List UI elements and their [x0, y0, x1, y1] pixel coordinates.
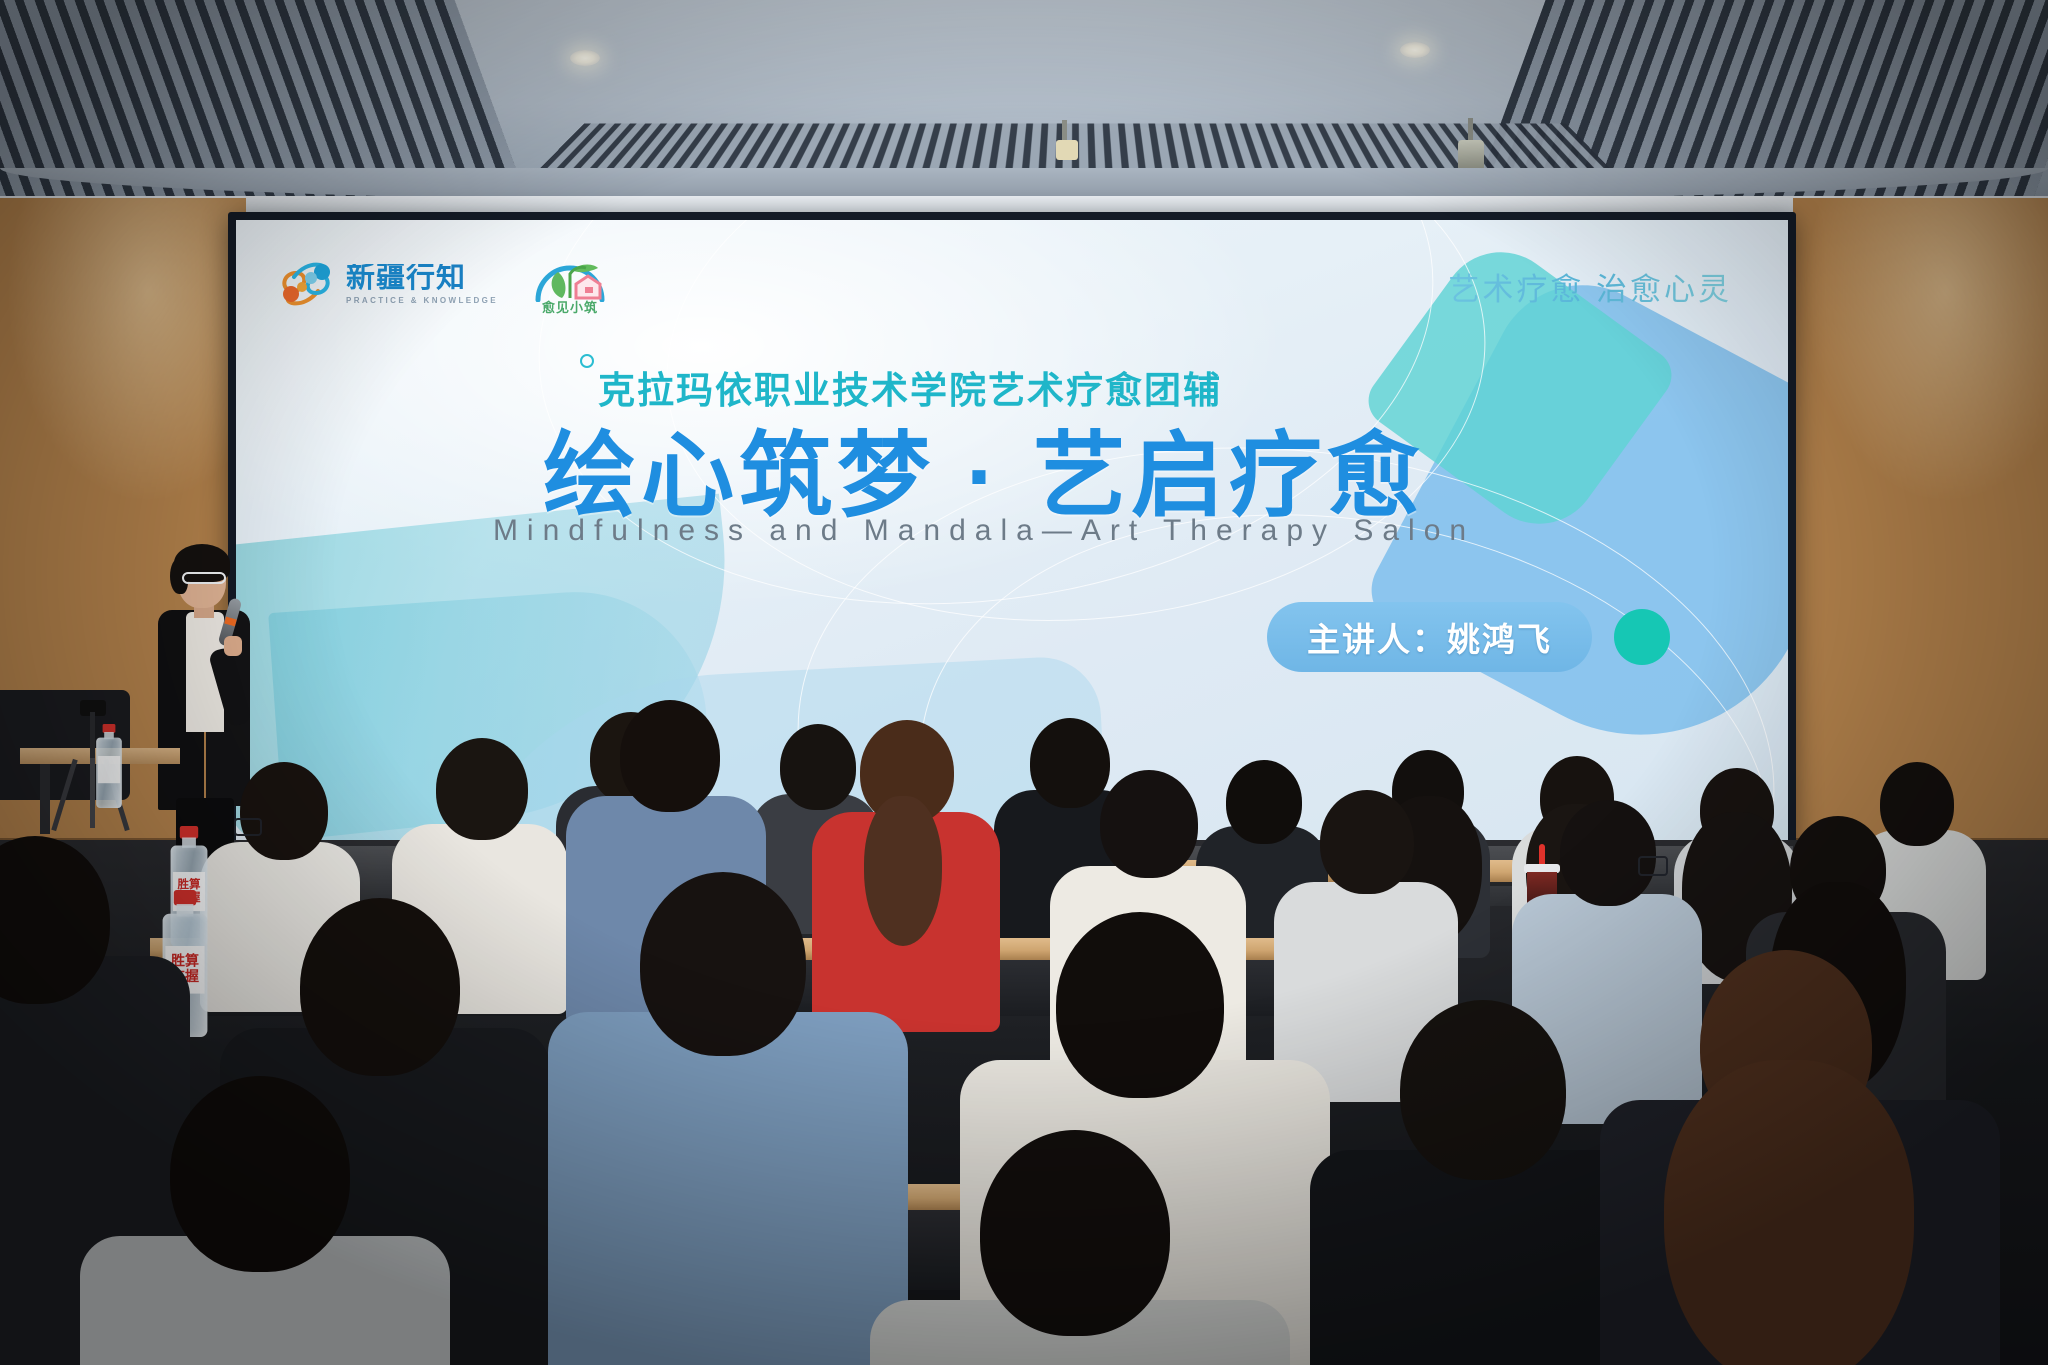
slide-tagline: 艺术疗愈 治愈心灵	[1448, 264, 1732, 309]
person-head	[1560, 800, 1656, 906]
decor-circle-marker	[580, 354, 594, 368]
bottle-label	[98, 756, 120, 783]
downlight	[570, 50, 600, 66]
logo-primary-en: PRACTICE & KNOWLEDGE	[346, 297, 498, 305]
person-hair-long	[1664, 1060, 1914, 1365]
person-head	[780, 724, 856, 810]
person-head	[640, 872, 806, 1056]
slide-title-en: Mindfulness and Mandala—Art Therapy Salo…	[324, 514, 1644, 548]
person-head	[1056, 912, 1224, 1098]
tripod-leg	[51, 759, 77, 831]
person-head	[1030, 718, 1110, 808]
presenter-glasses	[182, 572, 226, 584]
person-head	[1320, 790, 1414, 894]
decor-dot-teal	[1614, 609, 1670, 665]
person-glasses	[1638, 856, 1668, 876]
camera-tripod	[40, 700, 140, 830]
person-head	[1226, 760, 1302, 844]
person-head	[436, 738, 528, 840]
ceiling-speaker	[1056, 140, 1078, 160]
arch-leaf-house-icon	[532, 254, 608, 302]
speaker-name-badge: 主讲人：姚鸿飞	[1267, 602, 1592, 672]
projector-stem	[1468, 118, 1473, 140]
speaker-stem	[1062, 120, 1067, 142]
person-head	[620, 700, 720, 812]
person-head	[1100, 770, 1198, 878]
person-head	[240, 762, 328, 860]
person-body	[548, 1012, 908, 1365]
logo-primary-cn: 新疆行知	[346, 264, 498, 293]
logo-secondary-cn: 愈见小筑	[532, 297, 608, 316]
speaker-credit-row: 主讲人：姚鸿飞	[1267, 602, 1670, 672]
person-head	[980, 1130, 1170, 1336]
person-glasses	[234, 818, 262, 836]
logo-text-block: 新疆行知 PRACTICE & KNOWLEDGE	[346, 264, 498, 305]
person-head	[1400, 1000, 1566, 1180]
tripod-column	[90, 712, 95, 762]
logo-xinjiang-xingzhi: 新疆行知 PRACTICE & KNOWLEDGE	[278, 261, 498, 307]
presenter-hand	[224, 636, 242, 656]
slide-logo-group: 新疆行知 PRACTICE & KNOWLEDGE 愈见小筑	[278, 254, 608, 314]
molecule-icon	[278, 261, 336, 307]
person-head	[170, 1076, 350, 1272]
lecture-hall-scene: 新疆行知 PRACTICE & KNOWLEDGE 愈见小筑	[0, 0, 2048, 1365]
downlight	[1400, 42, 1430, 58]
person-head	[300, 898, 460, 1076]
tripod-leg	[90, 758, 95, 828]
logo-yujian-xiaozhu: 愈见小筑	[532, 254, 608, 314]
person-head	[1880, 762, 1954, 846]
person-ponytail	[864, 796, 942, 946]
